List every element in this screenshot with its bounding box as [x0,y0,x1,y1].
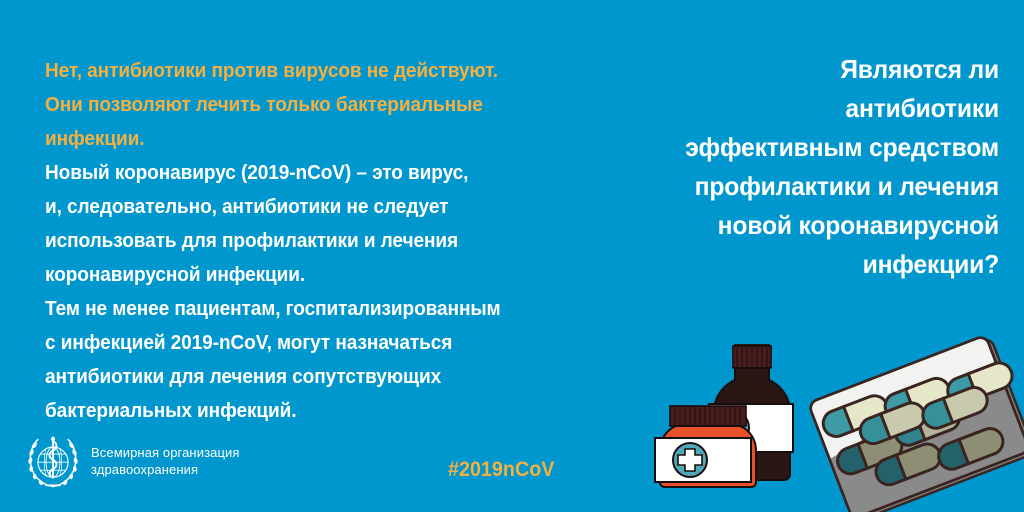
answer-highlight-line: Они позволяют лечить только бактериальны… [45,88,584,122]
who-organization-name: Всемирная организация здравоохранения [91,444,240,478]
question-heading: Являются ли антибиотики эффективным сред… [579,50,999,284]
answer-highlight-line: инфекции. [45,122,584,156]
answer-highlight-line: Нет, антибиотики против вирусов не дейст… [45,54,584,88]
answer-body-line: антибиотики для лечения сопутствующих [45,360,584,394]
question-line: антибиотики [600,89,999,128]
medicines-illustration [632,302,1024,512]
answer-body-line: коронавирусной инфекции. [45,258,584,292]
question-line: профилактики и лечения [600,167,999,206]
answer-body-line: Новый коронавирус (2019-nCoV) – это виру… [45,156,584,190]
orange-bottle-cap [670,406,746,426]
orange-medicine-bottle [655,406,756,487]
answer-body-line: Тем не менее пациентам, госпитализирован… [45,292,584,326]
dark-bottle-cap [733,346,771,368]
question-line: Являются ли [600,50,999,89]
who-emblem-icon [24,432,82,490]
question-line: новой коронавирусной [600,206,999,245]
medicines-illustration-svg [632,302,1024,512]
infographic-poster: Являются ли антибиотики эффективным сред… [0,0,1024,512]
answer-text-block: Нет, антибиотики против вирусов не дейст… [45,54,625,428]
blister-pack [808,331,1024,512]
hashtag-label: #2019nCoV [448,458,554,482]
answer-body-line: бактериальных инфекций. [45,394,584,428]
answer-body-line: с инфекцией 2019-nCoV, могут назначаться [45,326,584,360]
answer-body-line: и, следовательно, антибиотики не следует [45,190,584,224]
question-line: инфекции? [600,245,999,284]
answer-body-line: использовать для профилактики и лечения [45,224,584,258]
who-logo: Всемирная организация здравоохранения [24,432,240,490]
orange-bottle-cross-icon [673,443,707,477]
question-line: эффективным средством [600,128,999,167]
